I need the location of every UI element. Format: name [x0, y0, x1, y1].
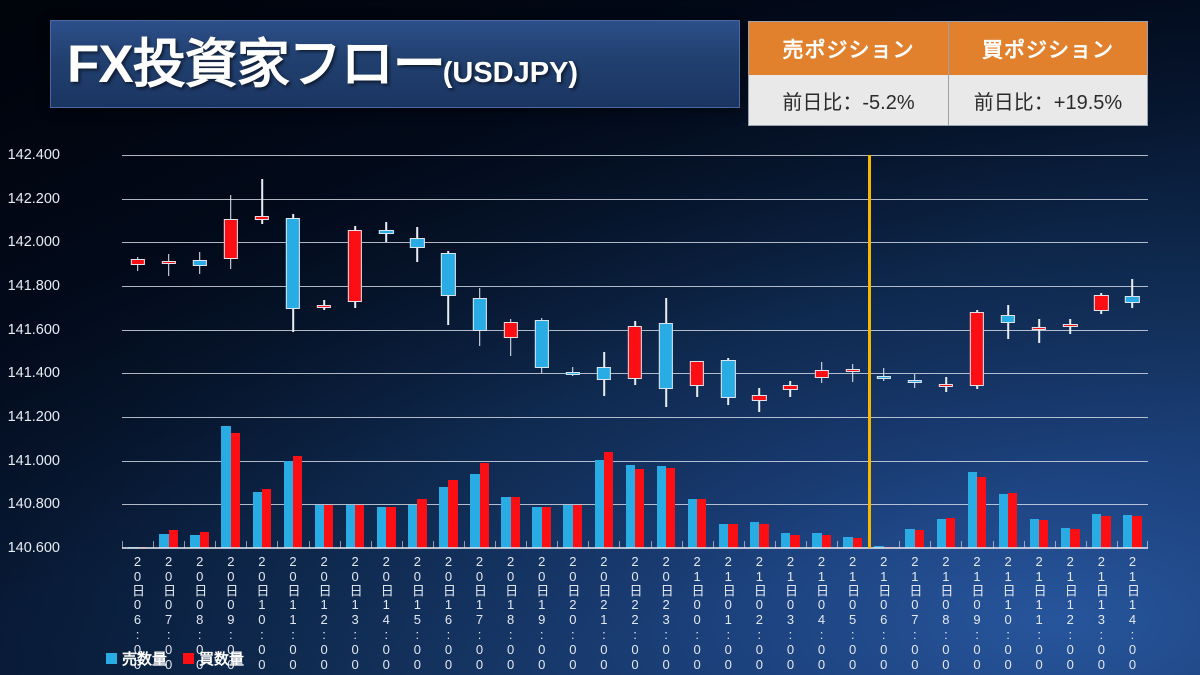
legend-swatch-icon [183, 653, 194, 664]
candle-body [1001, 315, 1015, 323]
x-axis-tick-label: 21日04:00 [812, 554, 831, 672]
volume-bar-buy [977, 477, 986, 548]
candle-body [690, 361, 704, 386]
volume-bar-buy [728, 524, 737, 548]
gridline [122, 155, 1148, 156]
candle-body [783, 385, 797, 389]
volume-bar-sell [812, 533, 821, 548]
x-axis-tick-label: 20日19:00 [532, 554, 551, 672]
candle-body [721, 360, 735, 398]
x-axis-tick-label: 21日03:00 [781, 554, 800, 672]
legend-item: 売数量 [106, 648, 167, 669]
candle-body [1125, 296, 1139, 304]
candle-body [628, 326, 642, 378]
candle-wick [1038, 319, 1040, 343]
volume-bar-sell [968, 472, 977, 548]
volume-bar-sell [253, 492, 262, 548]
y-axis-tick-label: 140.600 [0, 540, 60, 556]
legend-item: 買数量 [183, 648, 244, 669]
candle-body [535, 320, 549, 368]
candle-body [597, 367, 611, 380]
sell-position-column: 売ポジション 前日比：-5.2% [749, 22, 948, 125]
y-axis-tick-label: 141.200 [0, 409, 60, 425]
candle-body [193, 260, 207, 267]
sell-position-value: 前日比：-5.2% [749, 75, 948, 125]
volume-bar-sell [781, 533, 790, 548]
x-axis-labels: 20日06:0020日07:0020日08:0020日09:0020日10:00… [122, 549, 1148, 644]
volume-bar-sell [221, 426, 230, 548]
x-axis-tick-label: 21日00:00 [688, 554, 707, 672]
volume-bar-buy [355, 505, 364, 548]
candle-body [286, 218, 300, 309]
y-axis-tick-label: 141.000 [0, 453, 60, 469]
candle-body [1094, 295, 1108, 311]
x-axis-tick-label: 20日17:00 [470, 554, 489, 672]
candle-body [845, 369, 859, 372]
volume-bar-sell [1061, 528, 1070, 548]
gridline [122, 199, 1148, 200]
candle-body [255, 216, 269, 220]
title-banner: FX投資家フロー (USDJPY) [50, 20, 740, 108]
page-title: FX投資家フロー [67, 38, 445, 91]
volume-bar-buy [1132, 516, 1141, 548]
candle-body [877, 376, 891, 379]
volume-bar-buy [1008, 493, 1017, 548]
x-axis-tick-label: 21日09:00 [968, 554, 987, 672]
x-axis-tick-label: 21日12:00 [1061, 554, 1080, 672]
volume-bar-buy [822, 535, 831, 548]
legend-label: 売数量 [122, 648, 167, 669]
x-axis-tick-label: 20日13:00 [346, 554, 365, 672]
y-axis-tick-label: 141.800 [0, 278, 60, 294]
volume-bar-buy [200, 532, 209, 548]
x-axis-tick-label: 21日11:00 [1030, 554, 1049, 672]
volume-bar-buy [759, 524, 768, 548]
x-axis-tick-label: 20日14:00 [377, 554, 396, 672]
x-axis-tick-label: 20日10:00 [252, 554, 271, 672]
volume-bar-buy [666, 468, 675, 548]
legend-label: 買数量 [199, 648, 244, 669]
x-axis-tick-label: 20日18:00 [501, 554, 520, 672]
candle-body [441, 253, 455, 296]
volume-bar-sell [688, 499, 697, 548]
volume-bar-sell [377, 507, 386, 548]
x-axis-tick-label: 20日11:00 [284, 554, 303, 672]
x-axis-tick-label: 20日16:00 [439, 554, 458, 672]
candle-body [566, 372, 580, 375]
candle-wick [883, 368, 885, 381]
volume-bar-buy [915, 530, 924, 548]
candle-wick [1132, 279, 1134, 307]
x-axis-tick-label: 21日01:00 [719, 554, 738, 672]
candle-body [970, 312, 984, 386]
candle-body [472, 298, 486, 331]
candle-body [939, 384, 953, 387]
volume-bar-sell [750, 522, 759, 548]
position-summary-table: 売ポジション 前日比：-5.2% 買ポジション 前日比：+19.5% [748, 21, 1148, 126]
volume-bar-sell [657, 466, 666, 548]
x-axis-tick-label: 21日14:00 [1123, 554, 1142, 672]
y-axis-tick-label: 141.400 [0, 365, 60, 381]
page-subtitle: (USDJPY) [443, 57, 578, 90]
volume-bar-buy [169, 530, 178, 548]
volume-bar-sell [315, 505, 324, 548]
volume-bar-sell [1030, 519, 1039, 548]
x-axis-tick-label: 20日22:00 [626, 554, 645, 672]
buy-position-header: 買ポジション [949, 22, 1147, 75]
volume-bar-sell [284, 461, 293, 548]
volume-bar-sell [595, 460, 604, 548]
gridline [122, 461, 1148, 462]
y-axis-tick-label: 141.600 [0, 322, 60, 338]
gridline [122, 286, 1148, 287]
volume-bar-buy [542, 507, 551, 548]
volume-bar-buy [1039, 520, 1048, 548]
y-axis-tick-label: 142.200 [0, 191, 60, 207]
candle-body [814, 370, 828, 378]
x-axis-tick-label: 21日07:00 [905, 554, 924, 672]
volume-bar-buy [573, 505, 582, 548]
candle-body [503, 322, 517, 338]
y-axis-tick-label: 142.000 [0, 234, 60, 250]
volume-bar-sell [999, 494, 1008, 548]
x-axis-tick-label: 20日21:00 [594, 554, 613, 672]
chart-legend: 売数量買数量 [106, 648, 253, 669]
volume-bar-sell [501, 497, 510, 548]
volume-bar-buy [697, 499, 706, 548]
x-axis-tick-label: 20日15:00 [408, 554, 427, 672]
candle-body [908, 380, 922, 383]
x-axis-tick-label: 21日06:00 [874, 554, 893, 672]
candle-body [317, 305, 331, 308]
candlestick-chart: 142.400142.200142.000141.800141.600141.4… [122, 155, 1148, 548]
legend-swatch-icon [106, 653, 117, 664]
volume-bar-sell [408, 505, 417, 548]
candle-body [379, 230, 393, 233]
volume-bar-sell [1123, 515, 1132, 548]
buy-position-column: 買ポジション 前日比：+19.5% [948, 22, 1147, 125]
candle-body [410, 238, 424, 248]
volume-bar-sell [346, 505, 355, 548]
volume-bar-buy [511, 497, 520, 548]
candle-body [752, 395, 766, 400]
x-axis-tick-label: 20日23:00 [657, 554, 676, 672]
volume-bar-buy [324, 505, 333, 548]
volume-bar-sell [937, 519, 946, 548]
sell-position-header: 売ポジション [749, 22, 948, 75]
x-axis-tick-label: 20日20:00 [563, 554, 582, 672]
volume-bar-buy [262, 489, 271, 548]
candle-body [348, 230, 362, 302]
x-axis-tick-label: 21日10:00 [999, 554, 1018, 672]
y-axis-tick-label: 142.400 [0, 147, 60, 163]
volume-bar-buy [946, 518, 955, 549]
volume-bar-buy [635, 469, 644, 548]
candle-body [224, 219, 238, 258]
volume-bar-buy [790, 535, 799, 548]
volume-bar-sell [532, 507, 541, 548]
volume-bar-sell [719, 524, 728, 548]
candle-wick [852, 364, 854, 383]
gridline [122, 242, 1148, 243]
y-axis-tick-label: 140.800 [0, 496, 60, 512]
volume-bar-buy [1101, 516, 1110, 548]
candle-body [130, 259, 144, 266]
x-axis-tick-label: 20日12:00 [315, 554, 334, 672]
volume-bar-sell [159, 534, 168, 548]
candle-body [1063, 324, 1077, 327]
volume-bar-buy [417, 499, 426, 548]
candle-body [1032, 327, 1046, 330]
x-axis-line [122, 547, 1148, 548]
current-time-marker [868, 155, 871, 548]
gridline [122, 417, 1148, 418]
volume-bar-buy [1070, 529, 1079, 548]
volume-bar-sell [470, 474, 479, 548]
buy-position-value: 前日比：+19.5% [949, 75, 1147, 125]
candle-body [659, 323, 673, 389]
x-axis-tick-label: 21日08:00 [936, 554, 955, 672]
candle-wick [168, 254, 170, 276]
volume-bar-sell [563, 505, 572, 548]
x-axis-tick-label: 21日05:00 [843, 554, 862, 672]
volume-bar-buy [604, 452, 613, 548]
volume-bar-buy [293, 456, 302, 548]
volume-bar-sell [905, 529, 914, 548]
volume-bar-buy [231, 433, 240, 548]
candle-body [161, 261, 175, 264]
volume-bar-sell [1092, 514, 1101, 548]
volume-bar-buy [480, 463, 489, 548]
volume-bar-sell [439, 487, 448, 548]
volume-bar-sell [626, 465, 635, 548]
volume-bar-buy [448, 480, 457, 548]
x-axis-tick-label: 21日02:00 [750, 554, 769, 672]
volume-bar-buy [386, 507, 395, 548]
x-axis-tick-label: 21日13:00 [1092, 554, 1111, 672]
